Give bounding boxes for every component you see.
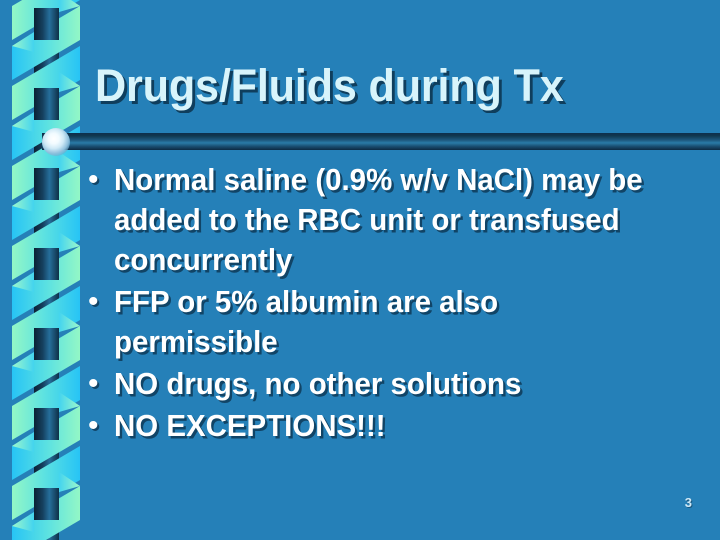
page-title: Drugs/Fluids during Tx [95,55,681,117]
list-item-label: NO drugs, no other solutions [114,364,659,404]
list-item-label: Normal saline (0.9% w/v NaCl) may be add… [114,160,659,280]
page-number: 3 [685,495,692,510]
title-divider [42,131,720,153]
helix-ribbon-decoration [0,0,95,540]
list-item-label: NO EXCEPTIONS!!! [114,406,659,446]
list-item: • FFP or 5% albumin are also permissible [88,282,688,362]
title-area: Drugs/Fluids during Tx [95,55,705,125]
divider-bar [42,133,720,150]
bullet-dot-icon: • [88,364,114,404]
list-item-label: FFP or 5% albumin are also permissible [114,282,659,362]
bullet-dot-icon: • [88,406,114,446]
list-item: • Normal saline (0.9% w/v NaCl) may be a… [88,160,688,280]
bullet-dot-icon: • [88,282,114,322]
list-item: • NO drugs, no other solutions [88,364,688,404]
slide: Drugs/Fluids during Tx • Normal saline (… [0,0,720,540]
bullet-dot-icon: • [88,160,114,200]
glow-ball-icon [42,128,70,156]
list-item: • NO EXCEPTIONS!!! [88,406,688,446]
bullet-list: • Normal saline (0.9% w/v NaCl) may be a… [88,160,688,448]
